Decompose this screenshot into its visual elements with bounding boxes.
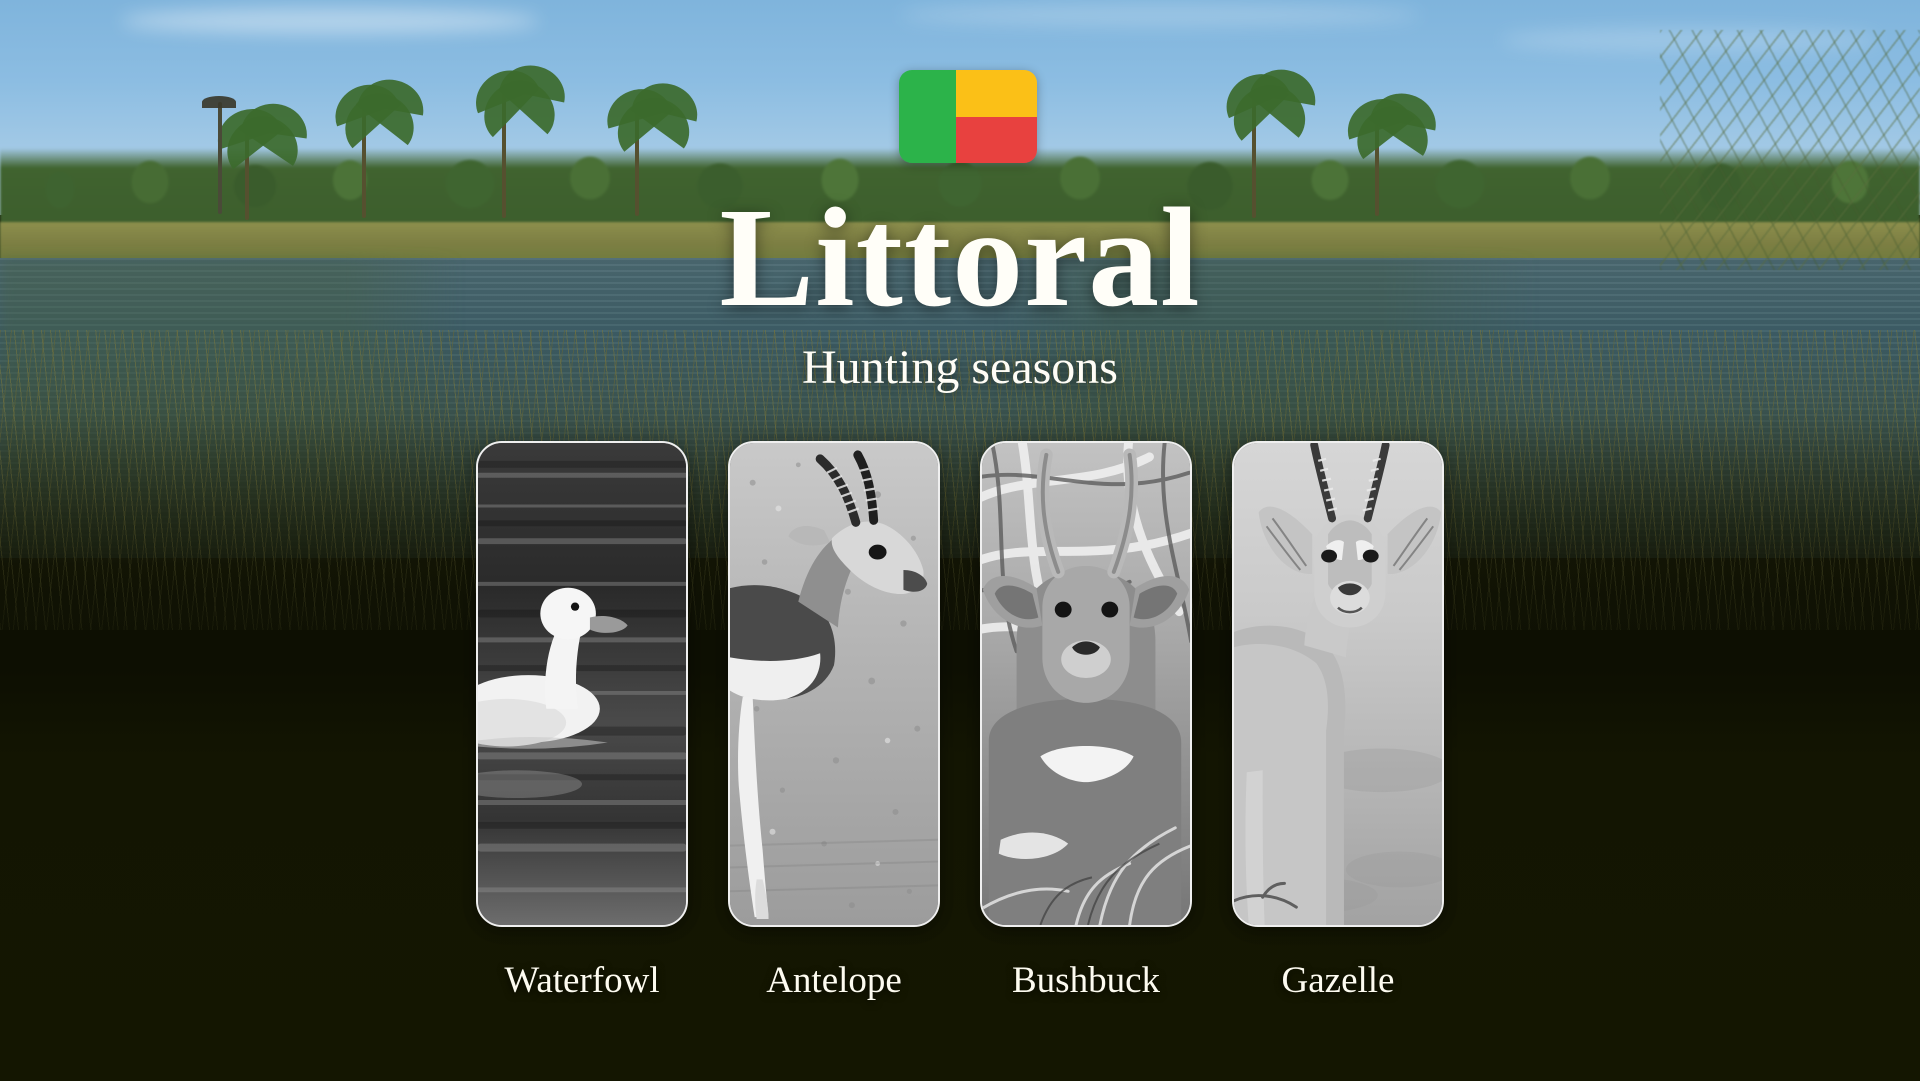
page-subtitle: Hunting seasons [0, 344, 1920, 392]
flag-right-bands [956, 70, 1037, 163]
animal-card-antelope[interactable]: Antelope [728, 441, 940, 1002]
flag-yellow-band [956, 70, 1037, 117]
animal-card-label: Gazelle [1232, 961, 1444, 1002]
animal-card-gazelle[interactable]: Gazelle [1232, 441, 1444, 1002]
animal-card-list: Waterfowl [0, 441, 1920, 1002]
bushbuck-photo[interactable] [980, 441, 1192, 927]
gazelle-photo[interactable] [1232, 441, 1444, 927]
animal-card-bushbuck[interactable]: Bushbuck [980, 441, 1192, 1002]
waterfowl-photo[interactable] [476, 441, 688, 927]
animal-card-label: Bushbuck [980, 961, 1192, 1002]
antelope-photo[interactable] [728, 441, 940, 927]
page-content: Littoral Hunting seasons [0, 0, 1920, 1081]
animal-card-waterfowl[interactable]: Waterfowl [476, 441, 688, 1002]
page-stage: Littoral Hunting seasons [0, 0, 1920, 1081]
animal-card-label: Antelope [728, 961, 940, 1002]
flag-green-band [899, 70, 956, 163]
benin-flag-icon [899, 70, 1037, 163]
animal-card-label: Waterfowl [476, 961, 688, 1002]
flag-red-band [956, 117, 1037, 164]
page-title: Littoral [0, 186, 1920, 328]
